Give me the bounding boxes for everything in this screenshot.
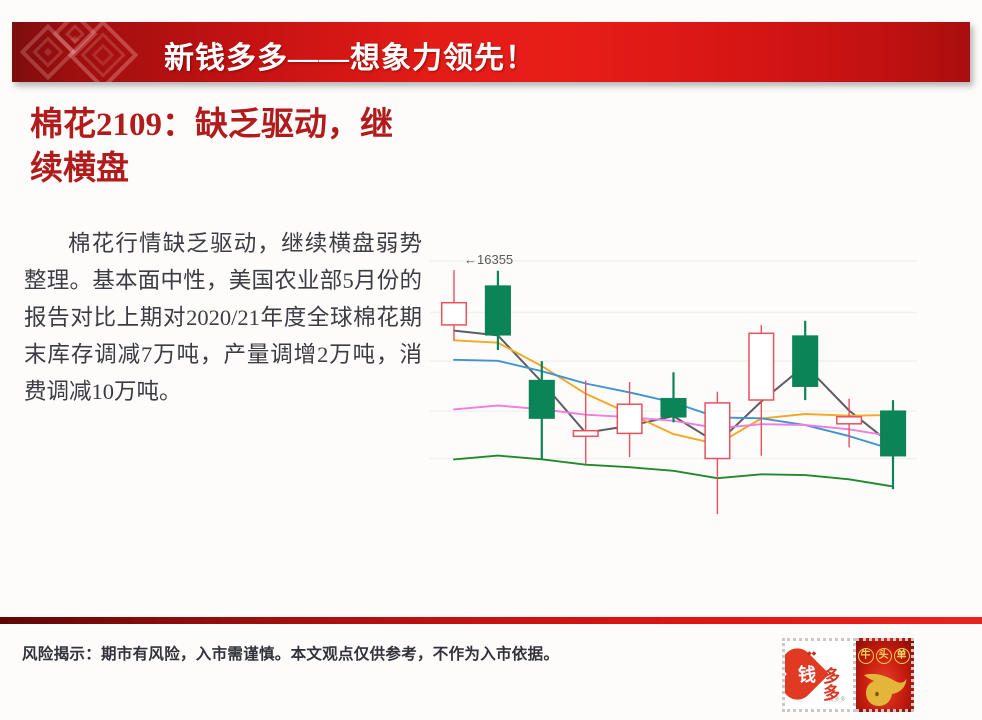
- candle: [486, 271, 511, 350]
- logo-stamp-qianduoduo: ◆◆ 钱 多多 钱多多: [782, 638, 856, 712]
- bull-head-icon: [862, 671, 908, 709]
- logo-stamp-niutoudan: 牛 头 单: [856, 638, 914, 712]
- candle: [793, 321, 818, 400]
- chart-annotations: ←16355: [464, 252, 513, 267]
- annotation-label: ←16355: [464, 252, 513, 267]
- candle: [442, 270, 467, 340]
- candle: [749, 325, 774, 456]
- header-title: 新钱多多——想象力领先！: [164, 33, 536, 77]
- diamond-knot-pattern-icon: [26, 22, 156, 82]
- footer-divider: [0, 617, 982, 624]
- candlestick-chart: ←16355: [430, 232, 917, 532]
- header-banner: 新钱多多——想象力领先！: [12, 22, 970, 82]
- logo-char-primary: 钱: [798, 666, 816, 684]
- brand-logo: ◆◆ 钱 多多 钱多多 牛 头 单: [782, 638, 914, 712]
- footer-disclaimer: 风险揭示：期市有风险，入市需谨慎。本文观点仅供参考，不作为入市依据。: [22, 642, 559, 664]
- body-paragraph: 棉花行情缺乏驱动，继续横盘弱势整理。基本面中性，美国农业部5月份的报告对比上期对…: [24, 226, 422, 410]
- logo-char-secondary: 多多: [823, 668, 853, 702]
- ma-line-MA-xxlong: [454, 456, 893, 487]
- logo-char-row: 牛 头 单: [856, 648, 911, 664]
- candle: [530, 361, 555, 458]
- page-title: 棉花2109：缺乏驱动，继续横盘: [30, 104, 420, 192]
- logo-char-dan: 单: [894, 648, 910, 664]
- candle: [881, 400, 906, 489]
- logo-char-niu: 牛: [858, 648, 874, 664]
- chart-canvas: ←16355: [430, 232, 917, 532]
- logo-char-tou: 头: [876, 648, 892, 664]
- candle: [661, 372, 686, 422]
- logo-tiny-mark: ◆◆: [807, 651, 816, 657]
- candle: [837, 399, 862, 448]
- candle: [705, 392, 730, 514]
- candle: [617, 382, 642, 457]
